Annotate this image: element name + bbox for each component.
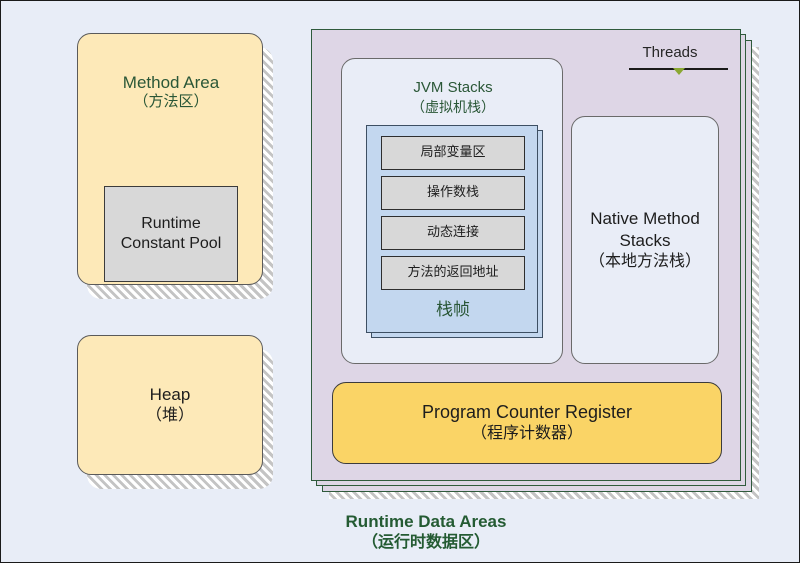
stack-frame-item[interactable]: 操作数栈: [381, 176, 525, 210]
program-counter-register-box[interactable]: Program Counter Register （程序计数器）: [332, 382, 722, 464]
program-counter-register-title-cn: （程序计数器）: [471, 424, 583, 445]
heap-title: Heap （堆）: [146, 384, 194, 425]
native-method-stacks-title-line1: Native Method: [590, 208, 700, 230]
threads-label: Threads: [620, 42, 720, 64]
runtime-constant-pool-line2: Constant Pool: [121, 234, 222, 254]
stack-frame-box[interactable]: 局部变量区 操作数栈 动态连接 方法的返回地址 栈帧: [366, 125, 538, 333]
stack-frame-item-label: 方法的返回地址: [407, 265, 498, 281]
diagram-caption: Runtime Data Areas （运行时数据区）: [281, 511, 571, 554]
diagram-caption-cn: （运行时数据区）: [281, 533, 571, 554]
runtime-constant-pool-line1: Runtime: [141, 214, 201, 234]
stack-frame-caption: 栈帧: [367, 296, 539, 326]
stack-frame-item-label: 动态连接: [427, 225, 479, 241]
runtime-data-areas-panel[interactable]: Threads JVM Stacks （虚拟机栈） 局部变量区 操作数栈 动态连…: [311, 29, 741, 481]
method-area-title-en: Method Area: [123, 72, 219, 93]
stack-frame-item[interactable]: 方法的返回地址: [381, 256, 525, 290]
method-area-box[interactable]: Method Area （方法区） Runtime Constant Pool: [77, 33, 263, 285]
diagram-canvas: Method Area （方法区） Runtime Constant Pool …: [0, 0, 800, 563]
jvm-stacks-box[interactable]: JVM Stacks （虚拟机栈） 局部变量区 操作数栈 动态连接 方法的返回地…: [341, 58, 563, 364]
heap-title-cn: （堆）: [146, 406, 194, 426]
runtime-constant-pool-box[interactable]: Runtime Constant Pool: [104, 186, 238, 282]
method-area-title-cn: （方法区）: [133, 93, 208, 112]
program-counter-register-title-en: Program Counter Register: [422, 401, 632, 424]
threads-marker-icon: [673, 68, 685, 75]
threads-label-text: Threads: [642, 44, 697, 63]
diagram-caption-en: Runtime Data Areas: [281, 511, 571, 533]
heap-title-en: Heap: [150, 384, 191, 405]
stack-frame-item[interactable]: 局部变量区: [381, 136, 525, 170]
stack-frame-item-label: 局部变量区: [420, 145, 485, 161]
stack-frame-item-label: 操作数栈: [427, 185, 479, 201]
jvm-stacks-title-cn: （虚拟机栈）: [411, 98, 495, 116]
native-method-stacks-title-cn: （本地方法栈）: [589, 252, 701, 273]
native-method-stacks-box[interactable]: Native Method Stacks （本地方法栈）: [571, 116, 719, 364]
jvm-stacks-title-en: JVM Stacks: [413, 78, 492, 98]
method-area-title: Method Area （方法区）: [78, 66, 264, 118]
stack-frame-caption-text: 栈帧: [436, 300, 470, 321]
jvm-stacks-title: JVM Stacks （虚拟机栈）: [342, 75, 564, 119]
stack-frame-item[interactable]: 动态连接: [381, 216, 525, 250]
native-method-stacks-title-line2: Stacks: [619, 230, 670, 252]
heap-box[interactable]: Heap （堆）: [77, 335, 263, 475]
